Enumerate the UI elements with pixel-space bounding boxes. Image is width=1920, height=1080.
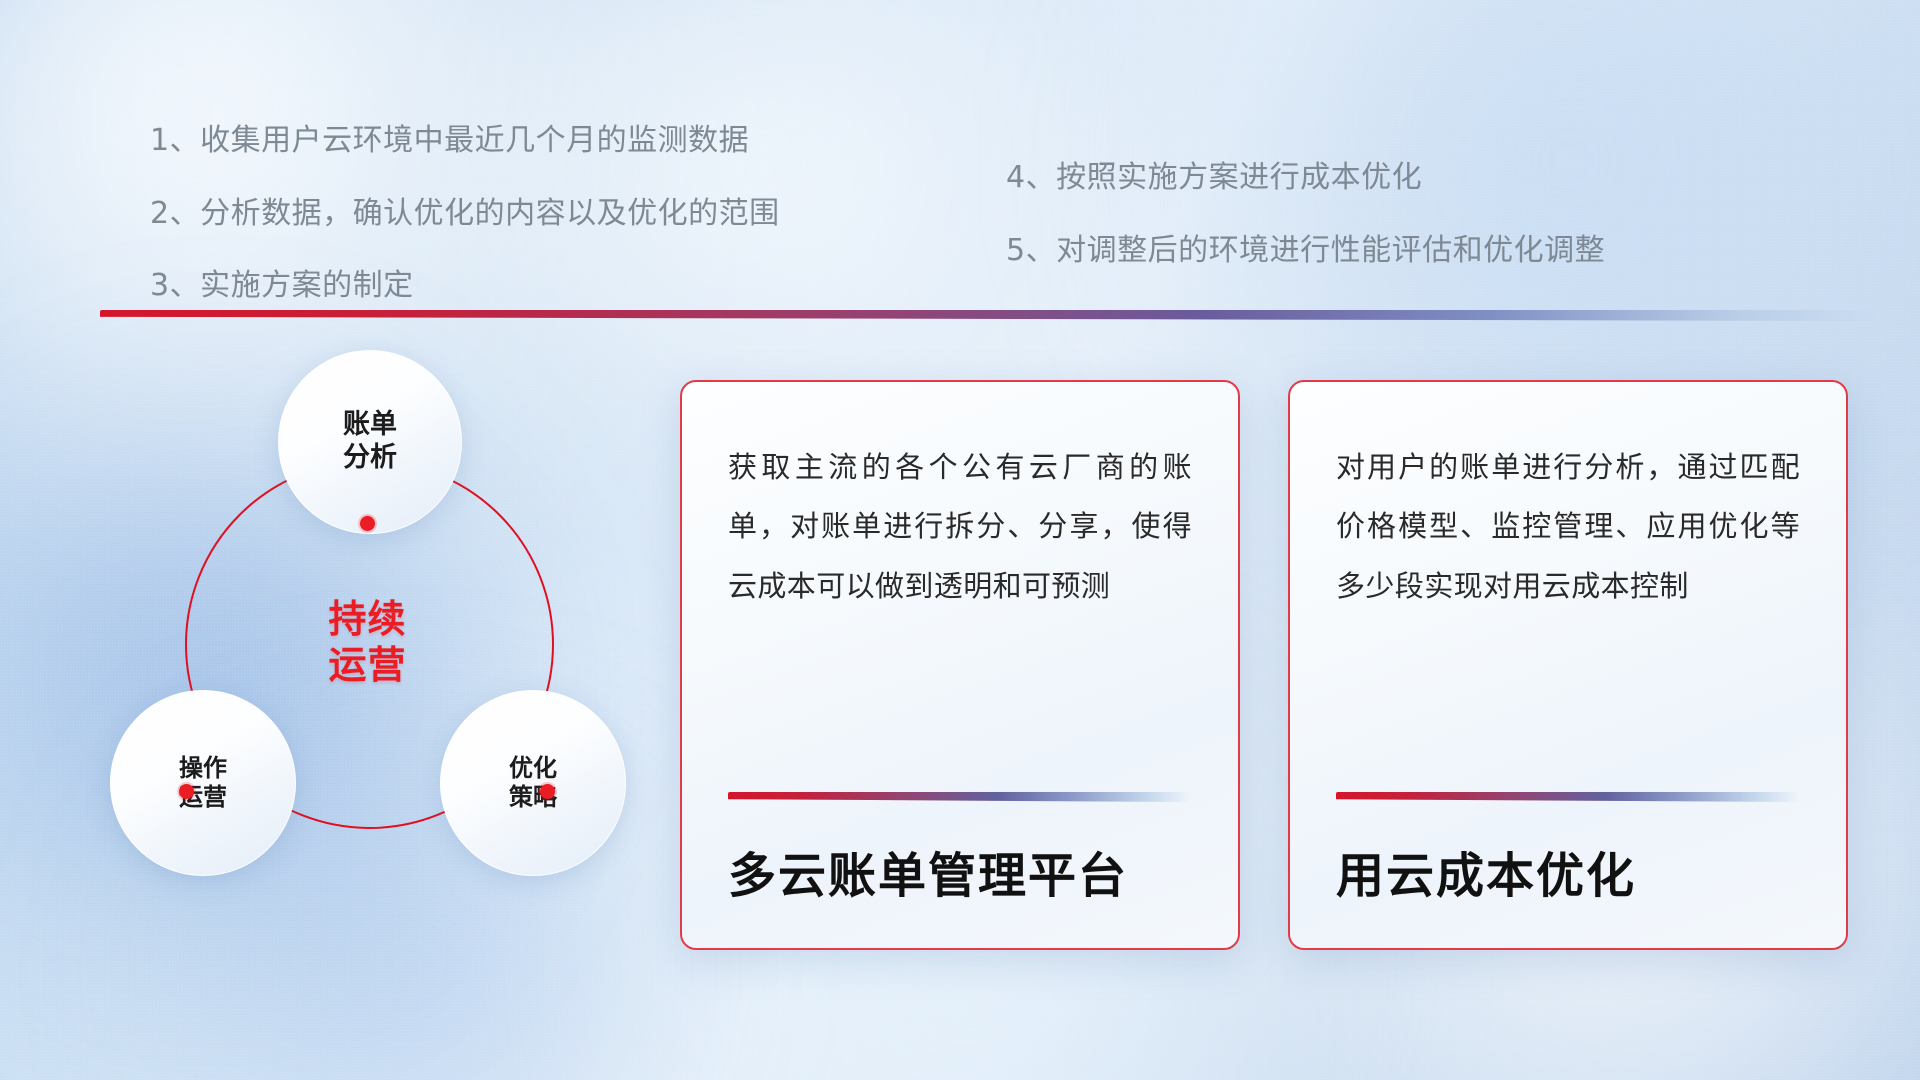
node-label-line-1: 操作 xyxy=(179,754,227,783)
card-body-text: 获取主流的各个公有云厂商的账单，对账单进行拆分、分享，使得云成本可以做到透明和可… xyxy=(728,438,1192,616)
node-label: 操作 运营 xyxy=(179,754,227,813)
card-divider-rule xyxy=(728,792,1192,802)
card-title: 用云成本优化 xyxy=(1336,836,1800,906)
connector-dot-top xyxy=(360,516,375,531)
node-label: 优化 策略 xyxy=(509,754,557,813)
step-item-5: 5、对调整后的环境进行性能评估和优化调整 xyxy=(1006,225,1605,269)
card-divider-rule xyxy=(1336,792,1800,802)
steps-list: 1、收集用户云环境中最近几个月的监测数据 2、分析数据，确认优化的内容以及优化的… xyxy=(0,0,1920,250)
diagram-node-operation[interactable]: 操作 运营 xyxy=(110,690,296,876)
card-title: 多云账单管理平台 xyxy=(728,836,1192,906)
step-item-4: 4、按照实施方案进行成本优化 xyxy=(1006,152,1422,196)
center-label-line-1: 持续 xyxy=(328,597,406,643)
center-label-line-2: 运营 xyxy=(328,643,406,689)
node-label: 账单 分析 xyxy=(343,409,397,475)
card-cloud-cost-optimization[interactable]: 对用户的账单进行分析，通过匹配价格模型、监控管理、应用优化等多少段实现对用云成本… xyxy=(1288,380,1848,950)
node-label-line-2: 分析 xyxy=(343,442,397,475)
card-body-text: 对用户的账单进行分析，通过匹配价格模型、监控管理、应用优化等多少段实现对用云成本… xyxy=(1336,438,1800,616)
node-label-line-1: 优化 xyxy=(509,754,557,783)
step-item-2: 2、分析数据，确认优化的内容以及优化的范围 xyxy=(150,188,780,232)
step-item-1: 1、收集用户云环境中最近几个月的监测数据 xyxy=(150,115,749,159)
connector-dot-left xyxy=(179,784,194,799)
step-item-3: 3、实施方案的制定 xyxy=(150,260,414,304)
connector-dot-right xyxy=(540,784,555,799)
node-label-line-1: 账单 xyxy=(343,409,397,442)
card-multi-cloud-billing[interactable]: 获取主流的各个公有云厂商的账单，对账单进行拆分、分享，使得云成本可以做到透明和可… xyxy=(680,380,1240,950)
continuous-operations-diagram: 持续 运营 账单 分析 操作 运营 优化 策略 xyxy=(100,340,640,960)
diagram-node-billing-analysis[interactable]: 账单 分析 xyxy=(278,350,462,534)
diagram-node-optimization-strategy[interactable]: 优化 策略 xyxy=(440,690,626,876)
